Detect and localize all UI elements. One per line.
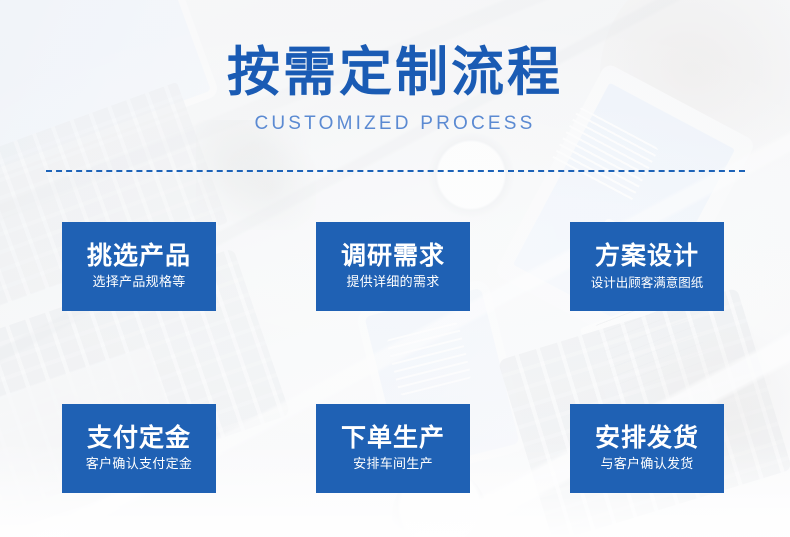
banner-content: 按需定制流程 CUSTOMIZED PROCESS 挑选产品 选择产品规格等 调… [0, 0, 790, 537]
process-step-card-5[interactable]: 下单生产 安排车间生产 [316, 404, 470, 493]
step-title: 方案设计 [595, 241, 699, 271]
step-title: 下单生产 [341, 423, 445, 453]
step-desc: 客户确认支付定金 [86, 455, 192, 474]
step-desc: 安排车间生产 [353, 455, 433, 474]
process-step-card-6[interactable]: 安排发货 与客户确认发货 [570, 404, 724, 493]
step-desc: 提供详细的需求 [346, 273, 439, 292]
process-step-grid: 挑选产品 选择产品规格等 调研需求 提供详细的需求 方案设计 设计出顾客满意图纸… [0, 0, 790, 537]
step-title: 安排发货 [595, 423, 699, 453]
process-step-card-3[interactable]: 方案设计 设计出顾客满意图纸 [570, 222, 724, 311]
process-step-card-2[interactable]: 调研需求 提供详细的需求 [316, 222, 470, 311]
step-desc: 设计出顾客满意图纸 [591, 273, 704, 292]
customized-process-banner: 85% 按需定制流程 CUSTOMIZED PROCESS 挑选产品 选择产品规… [0, 0, 790, 537]
step-title: 调研需求 [341, 241, 445, 271]
step-title: 支付定金 [87, 423, 191, 453]
step-desc: 选择产品规格等 [92, 273, 185, 292]
process-step-card-1[interactable]: 挑选产品 选择产品规格等 [62, 222, 216, 311]
step-title: 挑选产品 [87, 241, 191, 271]
step-desc: 与客户确认发货 [600, 455, 693, 474]
process-step-card-4[interactable]: 支付定金 客户确认支付定金 [62, 404, 216, 493]
